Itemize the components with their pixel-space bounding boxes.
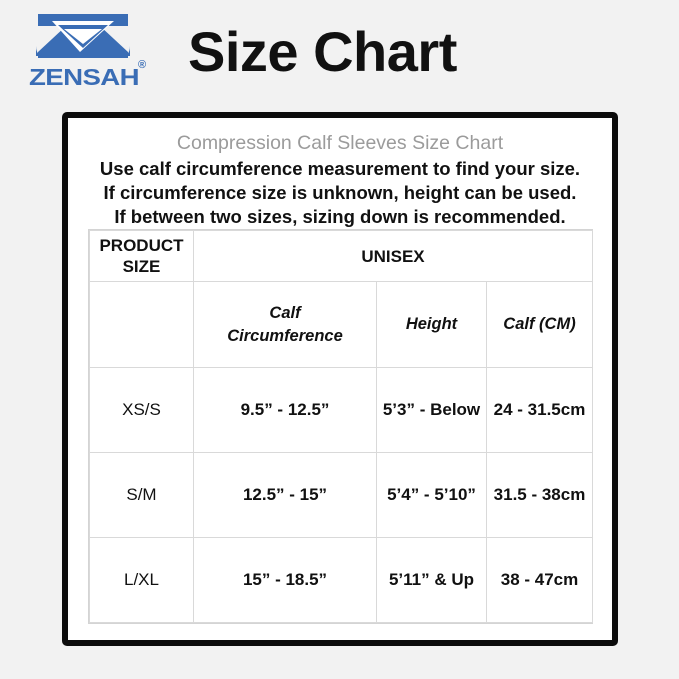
header-calf-circumference-line1: Calf [196,302,374,325]
svg-text:ZENSAH: ZENSAH [29,64,139,90]
table-row: S/M 12.5” - 15” 5’4” - 5’10” 31.5 - 38cm [90,453,593,538]
cell-height-l-xl: 5’11” & Up [377,538,487,623]
cell-size-s-m: S/M [90,453,194,538]
cell-calf-cm-l-xl: 38 - 47cm [487,538,593,623]
header-calf-circumference-line2: Circumference [196,325,374,348]
cell-calf-circumference-l-xl: 15” - 18.5” [194,538,377,623]
cell-height-xs-s: 5’3” - Below [377,368,487,453]
cell-height-s-m: 5’4” - 5’10” [377,453,487,538]
table-header-row-secondary: Calf Circumference Height Calf (CM) [90,282,593,368]
header-product-size-line2: SIZE [92,256,191,277]
page-header: ® ZENSAH Size Chart [0,0,679,106]
header-calf-cm: Calf (CM) [487,282,593,368]
table-header-row-primary: PRODUCT SIZE UNISEX [90,231,593,282]
header-product-size: PRODUCT SIZE [90,231,194,282]
cell-calf-circumference-s-m: 12.5” - 15” [194,453,377,538]
instruction-line-2: If circumference size is unknown, height… [76,181,604,205]
zensah-wordmark: ZENSAH [29,64,141,90]
size-chart-frame: Compression Calf Sleeves Size Chart Use … [62,112,618,646]
instructions-block: Use calf circumference measurement to fi… [76,157,604,229]
header-product-size-line1: PRODUCT [92,235,191,256]
size-table: PRODUCT SIZE UNISEX Calf Circumference H… [89,230,593,623]
chart-title: Compression Calf Sleeves Size Chart [68,131,612,155]
header-blank-cell [90,282,194,368]
cell-calf-cm-s-m: 31.5 - 38cm [487,453,593,538]
cell-size-l-xl: L/XL [90,538,194,623]
header-calf-circumference: Calf Circumference [194,282,377,368]
size-chart-body: Compression Calf Sleeves Size Chart Use … [68,118,612,640]
page-title: Size Chart [188,14,457,90]
table-row: L/XL 15” - 18.5” 5’11” & Up 38 - 47cm [90,538,593,623]
cell-calf-cm-xs-s: 24 - 31.5cm [487,368,593,453]
header-unisex: UNISEX [194,231,593,282]
size-table-container: PRODUCT SIZE UNISEX Calf Circumference H… [88,229,593,624]
instruction-line-1: Use calf circumference measurement to fi… [76,157,604,181]
zensah-logo: ® ZENSAH [28,12,150,96]
table-row: XS/S 9.5” - 12.5” 5’3” - Below 24 - 31.5… [90,368,593,453]
instruction-line-3: If between two sizes, sizing down is rec… [76,205,604,229]
zensah-z-logo-icon [28,12,138,60]
cell-calf-circumference-xs-s: 9.5” - 12.5” [194,368,377,453]
header-height: Height [377,282,487,368]
cell-size-xs-s: XS/S [90,368,194,453]
